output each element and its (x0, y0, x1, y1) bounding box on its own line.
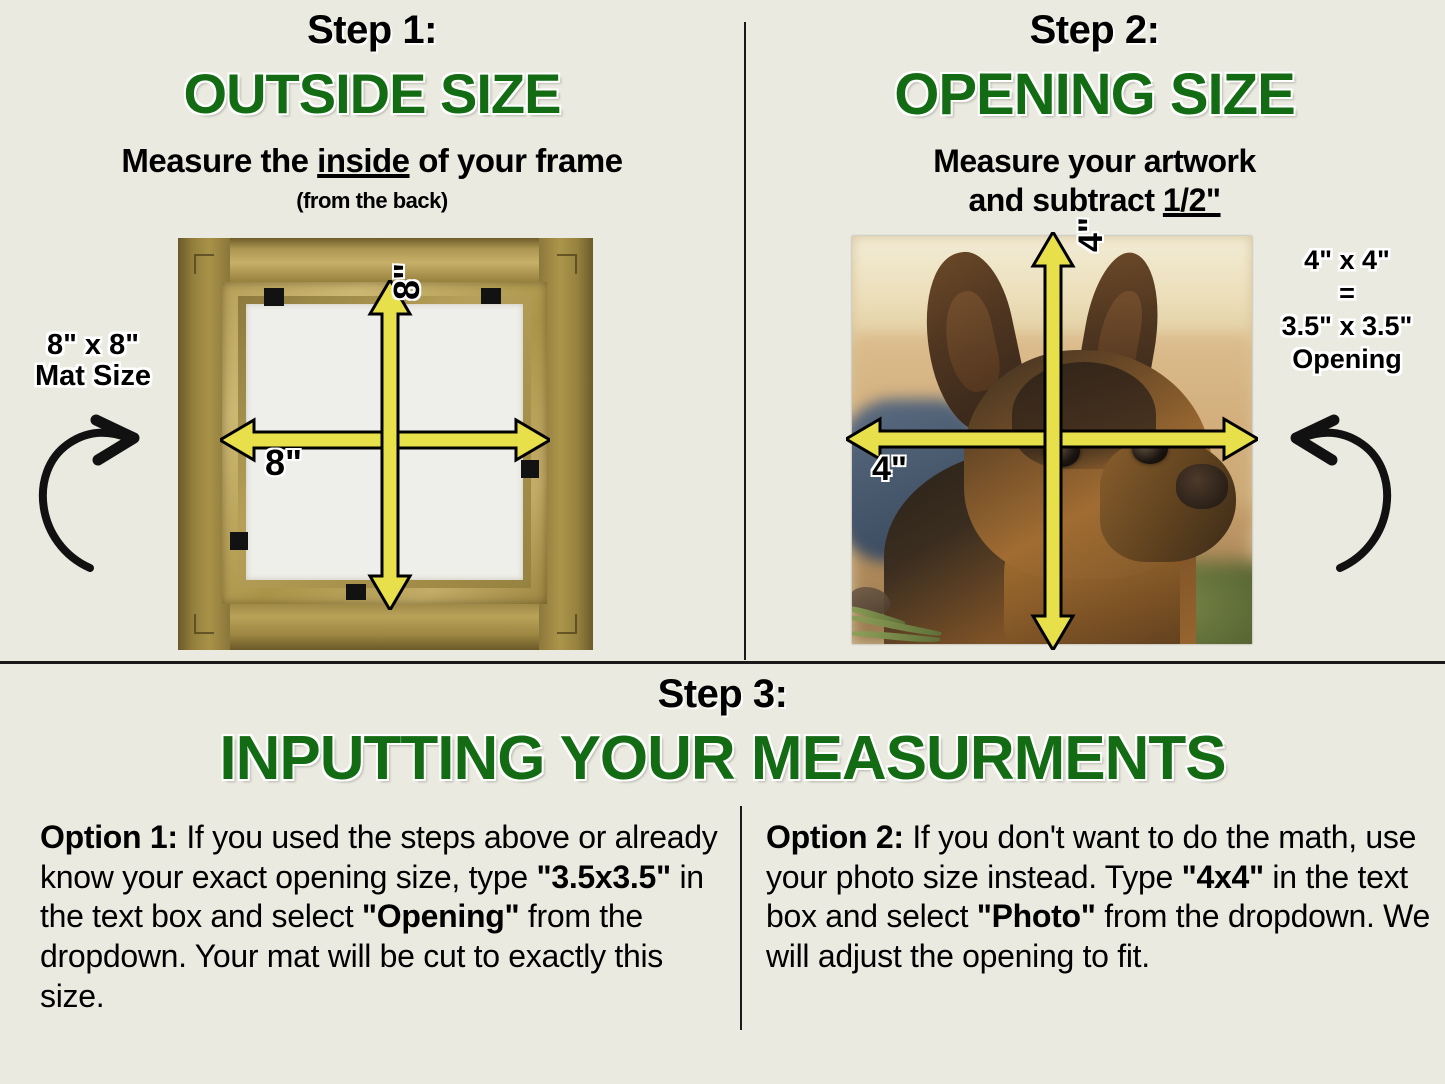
curved-arrow-right-icon (22, 408, 162, 608)
step2-title: OPENING SIZE (744, 61, 1445, 128)
frame-clip (346, 584, 366, 600)
frame-corner-mark (194, 614, 214, 634)
artwork-height-label: 4" (1072, 217, 1111, 252)
foreground-plant (852, 538, 964, 644)
vertical-divider-bottom (740, 806, 742, 1030)
option-2-paragraph: Option 2: If you don't want to do the ma… (766, 818, 1438, 977)
frame-moulding-right (539, 238, 593, 650)
infographic-page: Step 1: OUTSIDE SIZE Measure the inside … (0, 0, 1445, 1084)
opening-calculation-callout: 4" x 4" = 3.5" x 3.5" Opening (1252, 244, 1442, 376)
step1-subtitle: Measure the inside of your frame (0, 142, 744, 180)
dog-ear-inner (937, 288, 1004, 396)
dog-nose (1176, 464, 1228, 509)
curved-arrow-left-icon (1268, 408, 1408, 608)
step1-subtitle-underlined: inside (317, 142, 409, 179)
option-2-value-1: "4x4" (1182, 859, 1264, 895)
mat-size-line-1: 8" x 8" (18, 330, 168, 361)
opening-calc-line-1: 4" x 4" (1252, 244, 1442, 277)
option-2-value-2: "Photo" (977, 898, 1096, 934)
frame-corner-mark (557, 614, 577, 634)
artwork-width-label: 4" (872, 450, 907, 489)
artwork-photo (852, 236, 1252, 644)
step2-subtitle-underlined: 1/2" (1163, 182, 1221, 218)
frame-clip (264, 288, 284, 306)
step1-subtitle-part-a: Measure the (121, 142, 317, 179)
frame-height-label: 8" (386, 263, 428, 300)
step1-subtitle-part-b: of your frame (410, 142, 623, 179)
opening-calc-equals: = (1252, 277, 1442, 310)
option-1-heading: Option 1: (40, 819, 178, 855)
frame-corner-mark (557, 254, 577, 274)
frame-width-label: 8" (265, 442, 302, 484)
frame-corner-mark (194, 254, 214, 274)
step2-label: Step 2: (744, 8, 1445, 53)
step2-subtitle-line-2-text: and subtract (968, 182, 1162, 218)
photo-background-sky (852, 236, 1252, 346)
opening-calc-line-3: 3.5" x 3.5" (1252, 310, 1442, 343)
frame-clip (230, 532, 248, 550)
mat-size-line-2: Mat Size (18, 361, 168, 392)
step1-title: OUTSIDE SIZE (0, 61, 744, 126)
step2-subtitle: Measure your artwork and subtract 1/2" (744, 142, 1445, 220)
dog-eye-left (1044, 436, 1080, 467)
mat-size-callout: 8" x 8" Mat Size (18, 330, 168, 393)
frame-clip (521, 460, 539, 478)
option-1-value-1: "3.5x3.5" (536, 859, 670, 895)
horizontal-divider (0, 661, 1445, 664)
opening-calc-line-4: Opening (1252, 343, 1442, 376)
step2-subtitle-line-2: and subtract 1/2" (744, 181, 1445, 220)
step1-heading-block: Step 1: OUTSIDE SIZE Measure the inside … (0, 8, 744, 214)
option-1-value-2: "Opening" (362, 898, 519, 934)
step3-title: INPUTTING YOUR MEASURMENTS (0, 723, 1445, 794)
step1-subtitle-note: (from the back) (0, 188, 744, 214)
frame-clip (481, 288, 501, 304)
step3-heading-block: Step 3: INPUTTING YOUR MEASURMENTS (0, 672, 1445, 794)
step2-heading-block: Step 2: OPENING SIZE Measure your artwor… (744, 8, 1445, 220)
option-1-paragraph: Option 1: If you used the steps above or… (40, 818, 724, 1016)
step2-subtitle-line-1: Measure your artwork (744, 142, 1445, 181)
step3-label: Step 3: (0, 672, 1445, 717)
option-2-heading: Option 2: (766, 819, 904, 855)
step1-label: Step 1: (0, 8, 744, 53)
